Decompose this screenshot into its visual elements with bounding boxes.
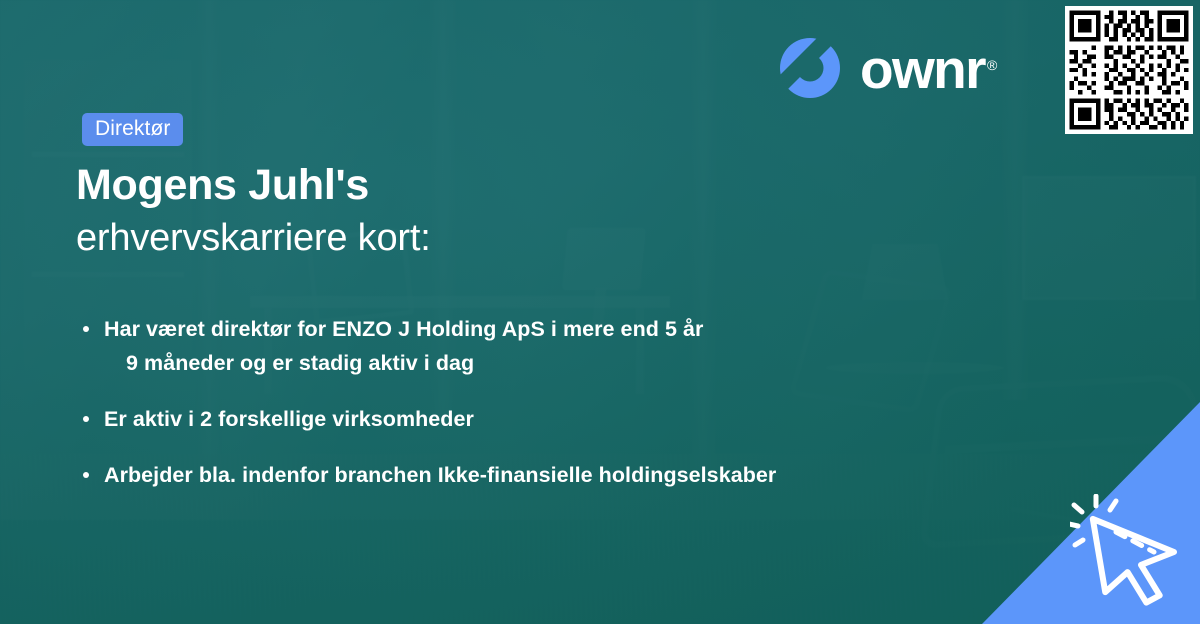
list-item-line-1: Er aktiv i 2 forskellige virksomheder xyxy=(104,407,474,431)
list-item-line-2: 9 måneder og er stadig aktiv i dag xyxy=(104,346,978,380)
mouse-cursor-click-icon xyxy=(1070,494,1186,606)
list-item: Arbejder bla. indenfor branchen Ikke-fin… xyxy=(78,458,978,492)
qr-code[interactable] xyxy=(1065,6,1193,134)
career-facts-list: Har været direktør for ENZO J Holding Ap… xyxy=(78,312,978,492)
bullet-dot-icon xyxy=(83,416,89,422)
corner-accent xyxy=(982,402,1200,624)
list-item: Er aktiv i 2 forskellige virksomheder xyxy=(78,402,978,436)
ownr-circle-swoosh-icon xyxy=(778,36,842,100)
list-item: Har været direktør for ENZO J Holding Ap… xyxy=(78,312,978,380)
title-line-2: erhvervskarriere kort: xyxy=(76,212,896,264)
page-title: Mogens Juhl's erhvervskarriere kort: xyxy=(76,158,896,264)
list-item-line-1: Har været direktør for ENZO J Holding Ap… xyxy=(104,317,703,341)
business-card: Direktør Mogens Juhl's erhvervskarriere … xyxy=(0,0,1200,624)
bullet-dot-icon xyxy=(83,326,89,332)
ownr-wordmark: ownr® xyxy=(860,42,994,97)
role-badge: Direktør xyxy=(82,113,183,146)
ownr-wordmark-text: ownr xyxy=(860,38,985,100)
title-line-1: Mogens Juhl's xyxy=(76,158,896,212)
bullet-dot-icon xyxy=(83,472,89,478)
list-item-line-1: Arbejder bla. indenfor branchen Ikke-fin… xyxy=(104,463,776,487)
qr-code-icon xyxy=(1065,6,1193,134)
registered-trademark-icon: ® xyxy=(987,57,996,73)
ownr-logo[interactable]: ownr® xyxy=(778,36,994,100)
